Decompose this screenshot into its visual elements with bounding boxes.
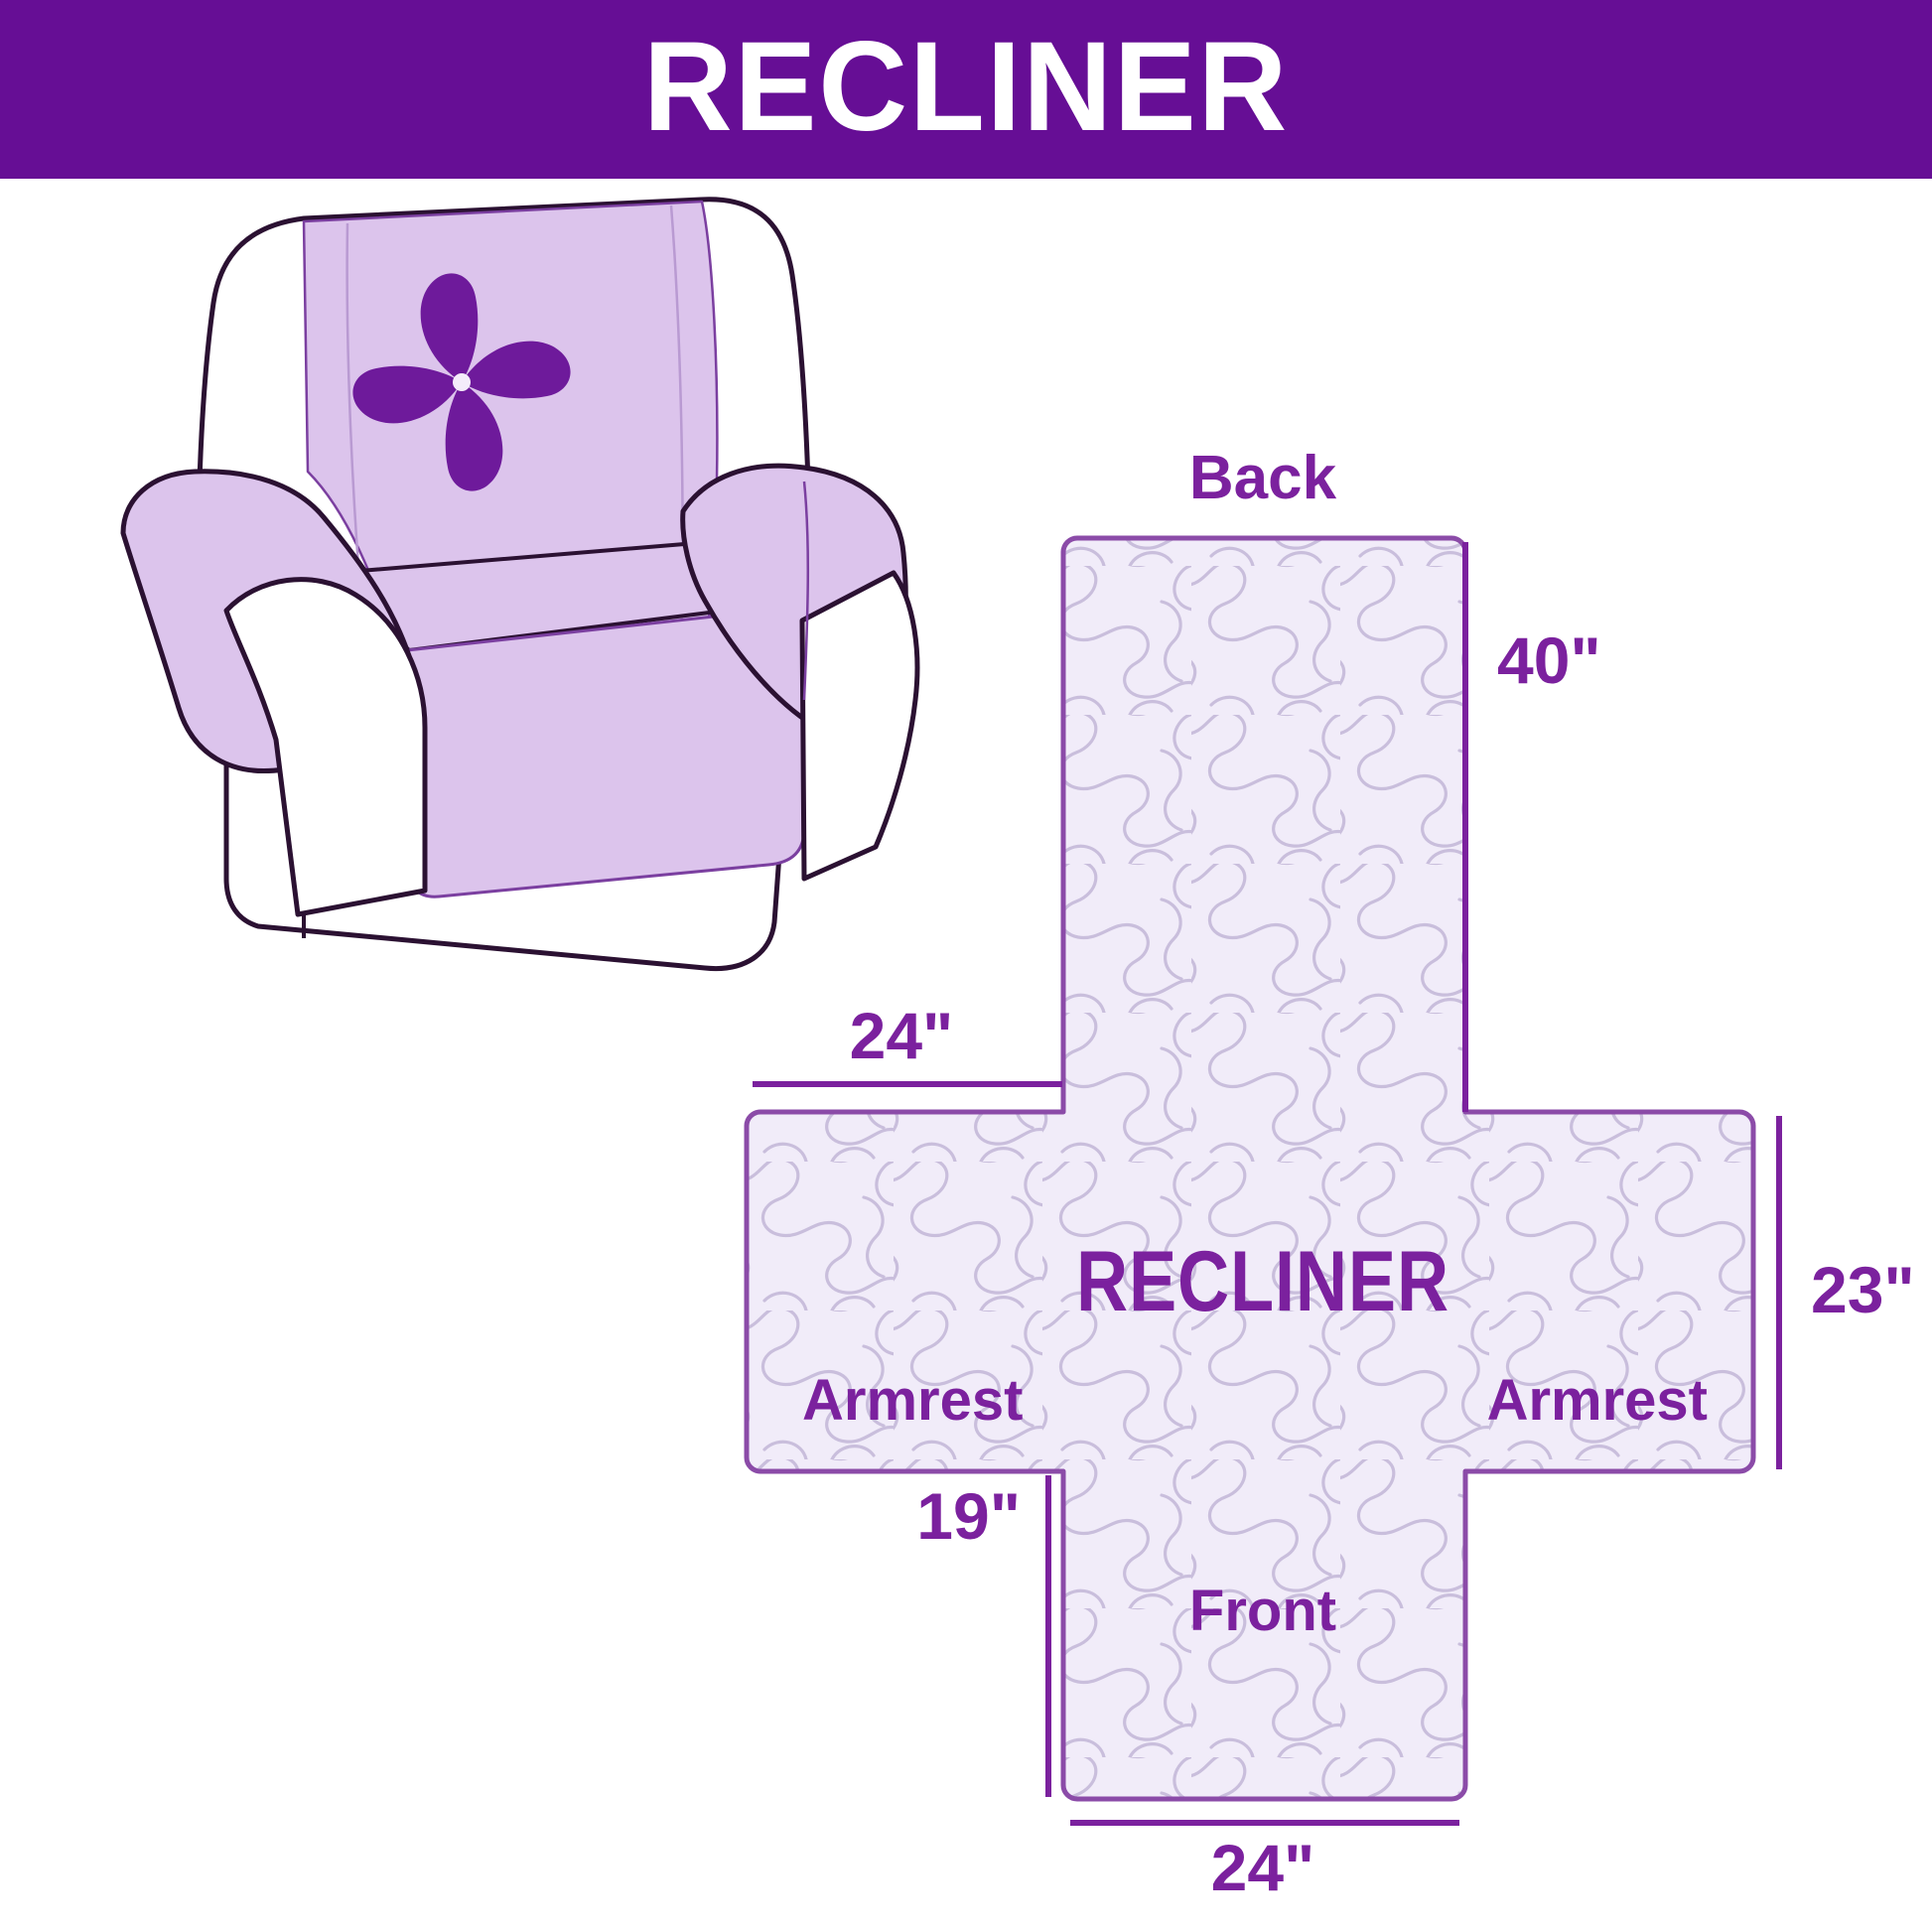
panel-label-armrest-right: Armrest — [1487, 1368, 1708, 1433]
dimension-seat-height: 23" — [1779, 1116, 1915, 1469]
dimension-front-height: 19" — [916, 1475, 1048, 1797]
cover-cross-diagram: Back Armrest Armrest Front RECLINER 40" … — [596, 417, 1932, 1827]
dimension-armrest-left-width: 24" — [753, 999, 1062, 1084]
panel-label-front: Front — [1189, 1579, 1336, 1643]
dimension-front-width: 24" — [1070, 1823, 1459, 1904]
header-banner: RECLINER — [0, 0, 1932, 179]
dimension-armrest-left-width-value: 24" — [850, 999, 954, 1072]
dimension-back-height-value: 40" — [1497, 623, 1601, 697]
cover-product-label: RECLINER — [1076, 1233, 1449, 1328]
dimension-front-width-value: 24" — [1211, 1831, 1315, 1904]
panel-label-armrest-left: Armrest — [802, 1368, 1023, 1433]
dimension-seat-height-value: 23" — [1811, 1253, 1915, 1326]
page-title: RECLINER — [643, 24, 1289, 151]
panel-label-back: Back — [1189, 444, 1337, 512]
dimension-front-height-value: 19" — [916, 1479, 1021, 1553]
page-root: RECLINER — [0, 0, 1932, 1932]
dimension-back-height: 40" — [1465, 542, 1601, 1112]
